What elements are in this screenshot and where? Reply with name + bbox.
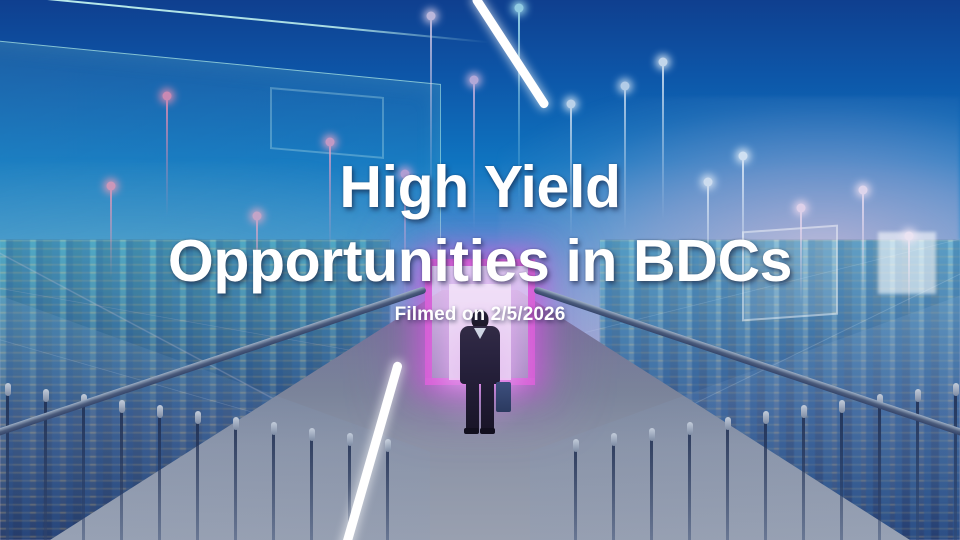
light-stalk-dot	[620, 82, 629, 91]
title-slide: High Yield Opportunities in BDCs Filmed …	[0, 0, 960, 540]
title-line-2: Opportunities in BDCs	[0, 224, 960, 298]
light-stalk-dot	[469, 76, 478, 85]
light-stalk-dot	[514, 4, 523, 13]
light-stalk-dot	[162, 92, 171, 101]
light-stalk-dot	[658, 58, 667, 67]
subtitle-filmed-date: Filmed on 2/5/2026	[0, 304, 960, 326]
light-stalk-dot	[426, 12, 435, 21]
light-stalk-dot	[325, 138, 334, 147]
light-stalk-dot	[566, 100, 575, 109]
title-block: High Yield Opportunities in BDCs Filmed …	[0, 150, 960, 326]
title-line-1: High Yield	[0, 150, 960, 224]
